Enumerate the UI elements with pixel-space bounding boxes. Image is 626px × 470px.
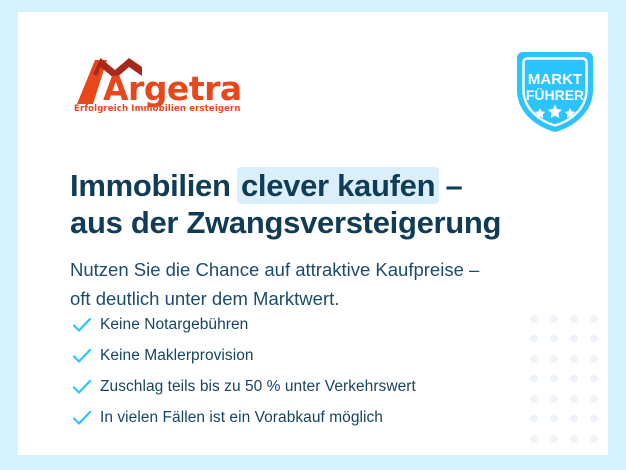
dot (570, 415, 578, 423)
subtitle: Nutzen Sie die Chance auf attraktive Kau… (70, 255, 550, 313)
dot (530, 435, 538, 443)
check-icon (72, 346, 100, 366)
subtitle-line2: oft deutlich unter dem Marktwert. (70, 288, 339, 309)
dot (590, 395, 598, 403)
dot (590, 375, 598, 383)
feature-label: Zuschlag teils bis zu 50 % unter Verkehr… (100, 378, 416, 396)
dot (530, 375, 538, 383)
dot (570, 315, 578, 323)
feature-label: In vielen Fällen ist ein Vorabkauf mögli… (100, 409, 383, 427)
promo-card-root: Argetra Erfolgreich Immobilien ersteiger… (0, 0, 626, 470)
check-icon (72, 315, 100, 335)
headline-line2: aus der Zwangsversteigerung (70, 205, 501, 240)
feature-label: Keine Notargebühren (100, 316, 248, 334)
dot (570, 395, 578, 403)
dot (530, 315, 538, 323)
dot (550, 375, 558, 383)
headline-part2: – (437, 168, 462, 203)
feature-list: Keine Notargebühren Keine Maklerprovisio… (72, 310, 502, 434)
feature-label: Keine Maklerprovision (100, 347, 254, 365)
list-item: Zuschlag teils bis zu 50 % unter Verkehr… (72, 372, 502, 401)
list-item: In vielen Fällen ist ein Vorabkauf mögli… (72, 403, 502, 432)
dot (570, 375, 578, 383)
subtitle-line1: Nutzen Sie die Chance auf attraktive Kau… (70, 259, 479, 280)
dot (530, 355, 538, 363)
dot (530, 335, 538, 343)
dot (530, 395, 538, 403)
badge-line1: MARKT (528, 71, 582, 88)
dot (530, 415, 538, 423)
logo-tagline: Erfolgreich Immobilien ersteigern (74, 104, 241, 114)
dot-grid-decoration (530, 315, 608, 455)
logo-wordmark: Argetra (103, 69, 242, 108)
markt-fuehrer-badge: MARKT FÜHRER (511, 46, 599, 136)
list-item: Keine Maklerprovision (72, 341, 502, 370)
page-title: Immobilien clever kaufen –aus der Zwangs… (70, 167, 540, 241)
headline-highlight: clever kaufen (237, 167, 439, 204)
dot (550, 435, 558, 443)
dot (590, 435, 598, 443)
argetra-logo[interactable]: Argetra Erfolgreich Immobilien ersteiger… (73, 56, 233, 122)
dot (570, 435, 578, 443)
dot (590, 315, 598, 323)
headline-part1: Immobilien (70, 168, 239, 203)
dot (590, 355, 598, 363)
list-item: Keine Notargebühren (72, 310, 502, 339)
dot (550, 395, 558, 403)
dot (590, 335, 598, 343)
dot (550, 335, 558, 343)
check-icon (72, 408, 100, 428)
dot (550, 355, 558, 363)
dot (550, 415, 558, 423)
badge-line2: FÜHRER (526, 87, 584, 103)
white-card: Argetra Erfolgreich Immobilien ersteiger… (18, 12, 608, 455)
check-icon (72, 377, 100, 397)
dot (550, 315, 558, 323)
dot (570, 355, 578, 363)
dot (590, 415, 598, 423)
dot (570, 335, 578, 343)
